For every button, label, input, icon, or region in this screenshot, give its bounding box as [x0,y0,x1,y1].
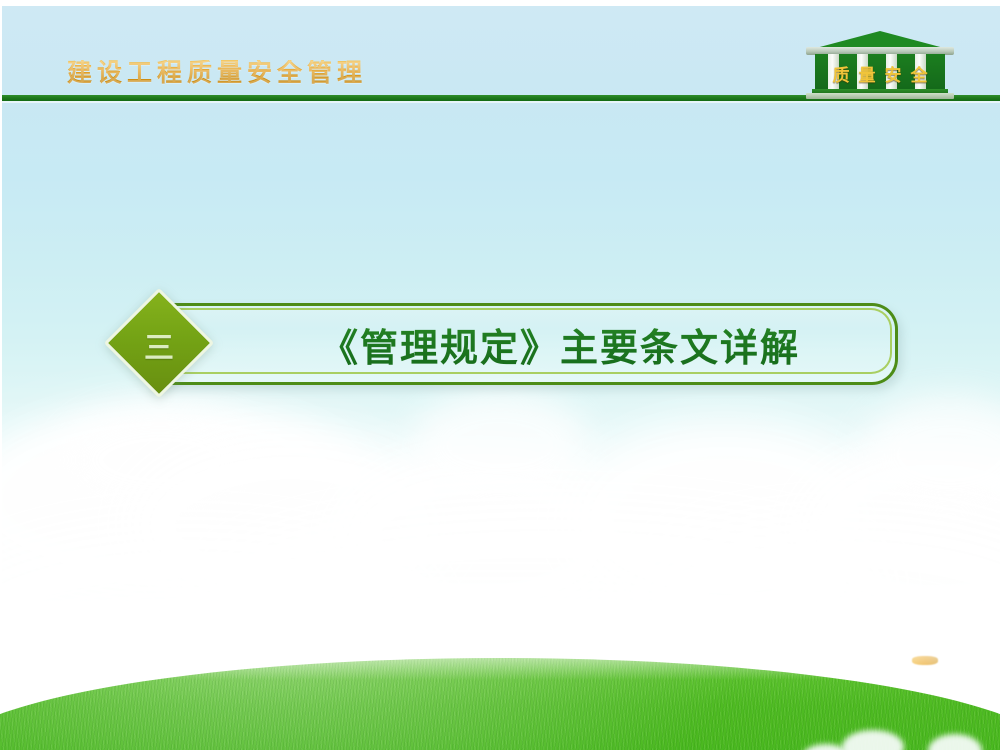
temple-step-icon [806,93,954,99]
cloud-shape [60,405,260,515]
section-number-diamond: 三 [104,290,214,400]
quality-safety-temple-logo: 质量安全 [806,31,954,99]
cloud-shape [410,390,590,500]
section-title-text: 《管理规定》主要条文详解 [250,303,870,385]
grass-hill [0,640,1000,750]
section-title-banner: 《管理规定》主要条文详解 [150,303,898,385]
horizon-flower-speck [912,656,938,665]
header-title: 建设工程质量安全管理 [67,60,367,85]
slide-canvas: 建设工程质量安全管理 质量安全 《管理规定》主要条文详解 三 [0,0,1000,750]
temple-roof-icon [816,31,944,48]
section-number-label: 三 [104,290,214,400]
logo-text: 质量安全 [806,61,954,86]
